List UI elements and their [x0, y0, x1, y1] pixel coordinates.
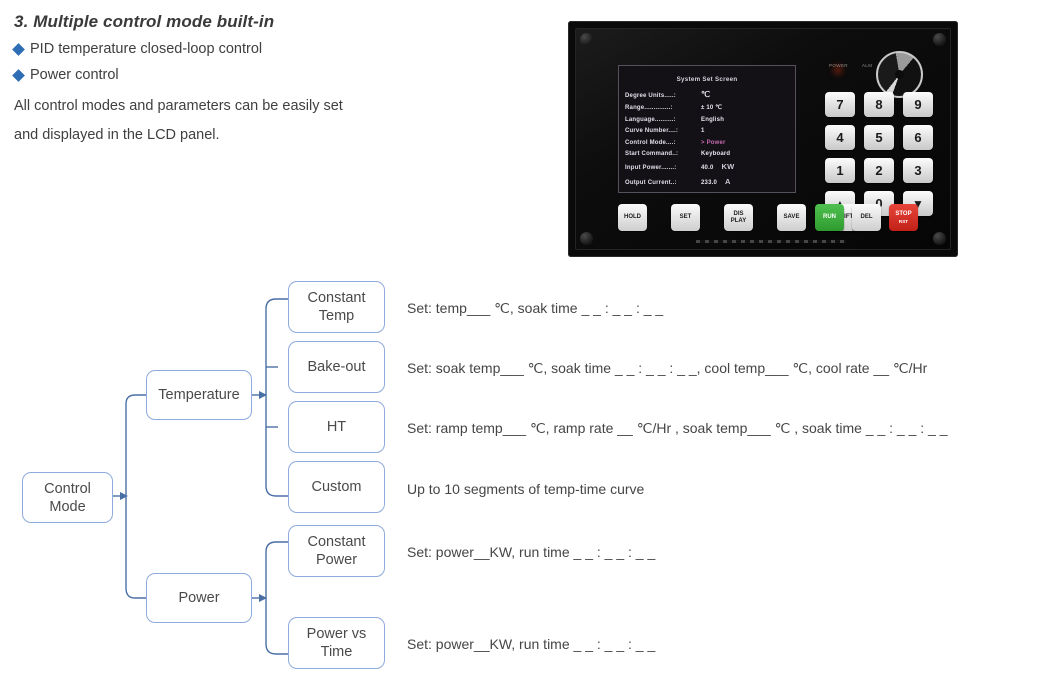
- section-heading-text: . Multiple control mode built-in: [24, 12, 275, 31]
- node-label-constant-temp: Constant Temp: [307, 289, 365, 325]
- node-label-custom: Custom: [312, 478, 362, 496]
- node-label-power-vs-time: Power vs Time: [307, 625, 367, 661]
- panel-bezel: System Set Screen Degree Units.....: ℃ R…: [575, 28, 951, 250]
- keypad-key-7[interactable]: 7: [825, 92, 855, 117]
- save-button[interactable]: SAVE: [777, 204, 806, 231]
- led-label: POWER: [829, 63, 848, 68]
- bullet-item-power: Power control: [14, 67, 434, 83]
- rotary-knob-icon[interactable]: [876, 51, 923, 98]
- hold-label: HOLD: [624, 214, 641, 221]
- desc-constant-temp: Set: temp___ ℃, soak time _ _ : _ _ : _ …: [407, 300, 663, 317]
- node-bake-out[interactable]: Bake-out: [288, 341, 385, 393]
- run-button[interactable]: RUN: [815, 204, 844, 231]
- node-control-mode[interactable]: Control Mode: [22, 472, 113, 523]
- lcd-value: ℃: [701, 90, 710, 99]
- lcd-row-range: Range..............: ± 10 ℃: [625, 104, 789, 111]
- lcd-row-control-mode: Control Mode....: > Power: [625, 140, 789, 146]
- lcd-row-curve-number: Curve Number....: 1: [625, 128, 789, 134]
- desc-bake-out: Set: soak temp___ ℃, soak time _ _ : _ _…: [407, 360, 927, 377]
- bullet-label-pid: PID temperature closed-loop control: [30, 41, 262, 57]
- keypad-key-8[interactable]: 8: [864, 92, 894, 117]
- lcd-display: System Set Screen Degree Units.....: ℃ R…: [618, 65, 796, 193]
- action-key-bar: RUN DEL STOP RST: [815, 204, 918, 231]
- bullet-label-power: Power control: [30, 67, 119, 83]
- lcd-title: System Set Screen: [625, 76, 789, 83]
- desc-power-vs-time: Set: power__KW, run time _ _ : _ _ : _ _: [407, 636, 655, 652]
- del-label: DEL: [861, 214, 873, 221]
- del-button[interactable]: DEL: [852, 204, 881, 231]
- lcd-value: English: [701, 117, 724, 123]
- lcd-value: Keyboard: [701, 151, 730, 157]
- lcd-value: > Power: [701, 140, 726, 146]
- node-constant-power[interactable]: Constant Power: [288, 525, 385, 577]
- keypad-key-1[interactable]: 1: [825, 158, 855, 183]
- lcd-unit: A: [725, 177, 731, 186]
- desc-ht: Set: ramp temp___ ℃, ramp rate __ ℃/Hr ,…: [407, 420, 948, 437]
- node-label-power: Power: [178, 589, 219, 607]
- feature-text-block: 3. Multiple control mode built-in PID te…: [14, 12, 434, 149]
- lcd-label: Language..........:: [625, 117, 701, 123]
- node-ht[interactable]: HT: [288, 401, 385, 453]
- node-label-control-mode: Control Mode: [44, 480, 91, 516]
- display-button[interactable]: DIS PLAY: [724, 204, 753, 231]
- lcd-row-language: Language..........: English: [625, 117, 789, 123]
- section-heading: 3. Multiple control mode built-in: [14, 12, 434, 32]
- keypad-key-6[interactable]: 6: [903, 125, 933, 150]
- section-number: 3: [14, 12, 24, 31]
- set-label: SET: [680, 214, 692, 221]
- lcd-label: Input Power.......:: [625, 165, 701, 171]
- keypad-key-5[interactable]: 5: [864, 125, 894, 150]
- lcd-row-start-command: Start Command..: Keyboard: [625, 151, 789, 157]
- lcd-label: Curve Number....:: [625, 128, 701, 134]
- description-line-1: All control modes and parameters can be …: [14, 93, 434, 120]
- diamond-bullet-icon: [12, 43, 25, 56]
- controller-panel-photo: System Set Screen Degree Units.....: ℃ R…: [568, 21, 958, 257]
- description-line-2: and displayed in the LCD panel.: [14, 122, 434, 149]
- node-temperature[interactable]: Temperature: [146, 370, 252, 420]
- diamond-bullet-icon: [12, 69, 25, 82]
- stop-reset-button[interactable]: STOP RST: [889, 204, 918, 231]
- save-label: SAVE: [784, 214, 800, 221]
- screw-icon: [933, 33, 946, 46]
- hold-button[interactable]: HOLD: [618, 204, 647, 231]
- screw-icon: [580, 33, 593, 46]
- lcd-row-input-power: Input Power.......: 40.0 KW: [625, 162, 789, 171]
- screw-icon: [580, 232, 593, 245]
- node-label-temperature: Temperature: [158, 386, 239, 404]
- node-power[interactable]: Power: [146, 573, 252, 623]
- display-label-2: PLAY: [731, 218, 746, 225]
- node-power-vs-time[interactable]: Power vs Time: [288, 617, 385, 669]
- display-label-1: DIS: [733, 211, 743, 218]
- lcd-label: Control Mode....:: [625, 140, 701, 146]
- lcd-label: Range..............:: [625, 105, 701, 111]
- set-button[interactable]: SET: [671, 204, 700, 231]
- desc-custom: Up to 10 segments of temp-time curve: [407, 481, 644, 497]
- node-label-constant-power: Constant Power: [307, 533, 365, 569]
- node-label-ht: HT: [327, 418, 346, 436]
- run-label: RUN: [823, 214, 836, 221]
- bullet-item-pid: PID temperature closed-loop control: [14, 41, 434, 57]
- lcd-value: 1: [701, 128, 705, 134]
- lcd-label: Output Current..:: [625, 180, 701, 186]
- led-power: POWER: [829, 63, 848, 70]
- lcd-value: 40.0: [701, 165, 713, 171]
- control-mode-tree-diagram: Control Mode Temperature Power Constant …: [0, 262, 1048, 680]
- led-alm: ALM: [862, 63, 872, 70]
- led-label: ALM: [862, 63, 872, 68]
- lcd-label: Start Command..:: [625, 151, 701, 157]
- lcd-value: ± 10 ℃: [701, 104, 722, 111]
- lcd-label: Degree Units.....:: [625, 93, 701, 99]
- numeric-keypad: 7 8 9 4 5 6 1 2 3 ▲ 0 ▼: [825, 92, 933, 216]
- screw-icon: [933, 232, 946, 245]
- keypad-key-2[interactable]: 2: [864, 158, 894, 183]
- lcd-unit: KW: [721, 162, 734, 171]
- lcd-row-output-current: Output Current..: 233.0 A: [625, 177, 789, 186]
- node-custom[interactable]: Custom: [288, 461, 385, 513]
- decorative-strip: [696, 240, 846, 243]
- lcd-row-degree-units: Degree Units.....: ℃: [625, 90, 789, 99]
- reset-label: RST: [899, 218, 908, 225]
- keypad-key-9[interactable]: 9: [903, 92, 933, 117]
- node-label-bake-out: Bake-out: [307, 358, 365, 376]
- node-constant-temp[interactable]: Constant Temp: [288, 281, 385, 333]
- desc-constant-power: Set: power__KW, run time _ _ : _ _ : _ _: [407, 544, 655, 560]
- stop-label: STOP: [895, 211, 911, 218]
- lcd-value: 233.0: [701, 180, 717, 186]
- keypad-key-3[interactable]: 3: [903, 158, 933, 183]
- keypad-key-4[interactable]: 4: [825, 125, 855, 150]
